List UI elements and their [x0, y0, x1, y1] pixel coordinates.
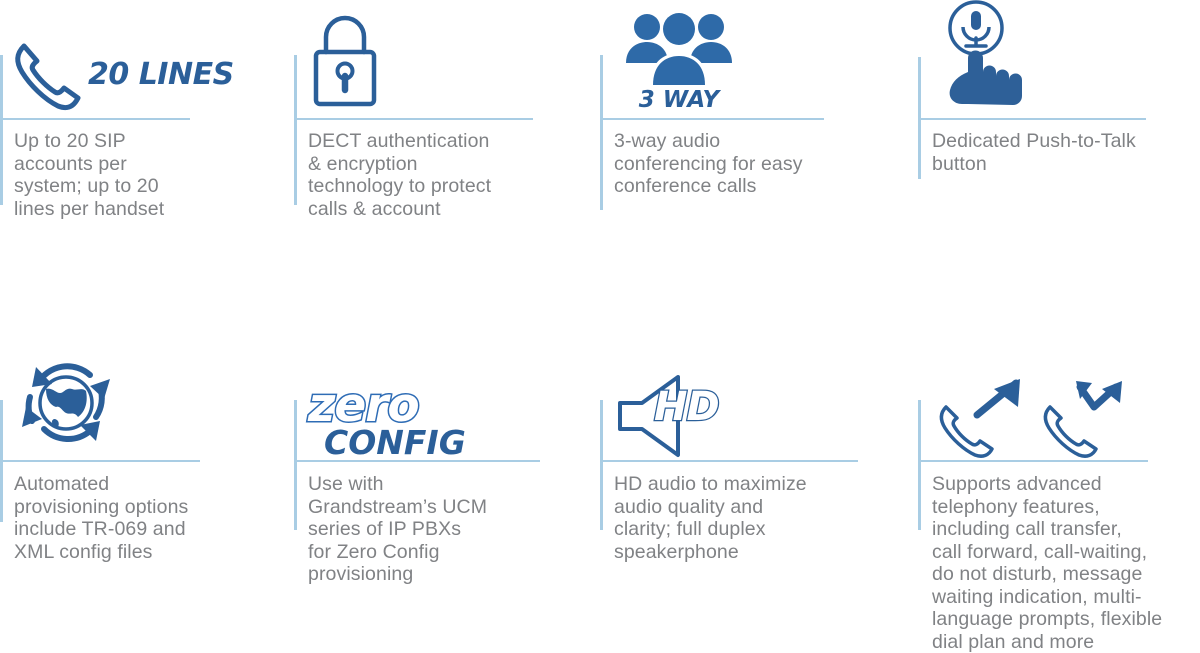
- feature-description: 3-way audio conferencing for easy confer…: [614, 130, 864, 198]
- feature-cell-zero-config: zero CONFIG Use with Grandstream’s UCM s…: [294, 355, 584, 641]
- cell-vertical-rule: [918, 400, 921, 530]
- feature-wordmark: 3 WAY: [639, 89, 719, 112]
- zero-wordmark-top: zero: [308, 384, 419, 428]
- cell-vertical-rule: [294, 400, 297, 530]
- phone-handset-icon: 20 LINES: [14, 30, 234, 112]
- call-transfer-forward-icon: [932, 375, 1128, 459]
- hand-press-microphone-icon: [932, 0, 1024, 112]
- padlock-icon: [308, 8, 382, 112]
- cell-vertical-rule: [0, 55, 3, 205]
- feature-wordmark: 20 LINES: [88, 60, 234, 90]
- globe-sync-arrows-icon: [14, 355, 118, 453]
- feature-cell-hd-audio: HD HD audio to maximize audio quality an…: [600, 355, 900, 641]
- cell-vertical-rule: [294, 55, 297, 205]
- cell-horizontal-rule: [294, 118, 533, 120]
- cell-vertical-rule: [600, 55, 603, 210]
- feature-cell-dect-security: DECT authentication & encryption technol…: [294, 30, 584, 270]
- feature-cell-advanced-telephony: Supports advanced telephony features, in…: [918, 355, 1200, 641]
- feature-description: Supports advanced telephony features, in…: [932, 473, 1200, 653]
- cell-horizontal-rule: [918, 460, 1148, 462]
- speaker-hd-icon: HD: [614, 365, 726, 459]
- feature-wordmark: HD: [654, 387, 719, 427]
- zero-config-wordmark-icon: zero CONFIG: [308, 367, 466, 459]
- feature-cell-sip-lines: 20 LINES Up to 20 SIP accounts per syste…: [0, 30, 290, 270]
- cell-horizontal-rule: [600, 118, 824, 120]
- feature-description: Automated provisioning options include T…: [14, 473, 276, 563]
- feature-cell-three-way-conference: 3 WAY 3-way audio conferencing for easy …: [600, 30, 900, 270]
- cell-horizontal-rule: [600, 460, 858, 462]
- feature-description: DECT authentication & encryption technol…: [308, 130, 568, 220]
- feature-description: HD audio to maximize audio quality and c…: [614, 473, 884, 563]
- cell-horizontal-rule: [918, 118, 1146, 120]
- feature-description: Use with Grandstream’s UCM series of IP …: [308, 473, 570, 586]
- feature-cell-push-to-talk: Dedicated Push-to-Talk button: [918, 30, 1200, 270]
- feature-description: Up to 20 SIP accounts per system; up to …: [14, 130, 254, 220]
- cell-vertical-rule: [600, 400, 603, 530]
- cell-horizontal-rule: [0, 118, 190, 120]
- three-people-icon: 3 WAY: [614, 2, 744, 112]
- cell-horizontal-rule: [0, 460, 200, 462]
- feature-cell-auto-provisioning: Automated provisioning options include T…: [0, 355, 290, 641]
- feature-grid: 20 LINES Up to 20 SIP accounts per syste…: [0, 0, 1200, 641]
- zero-wordmark-bottom: CONFIG: [324, 426, 466, 459]
- feature-description: Dedicated Push-to-Talk button: [932, 130, 1194, 175]
